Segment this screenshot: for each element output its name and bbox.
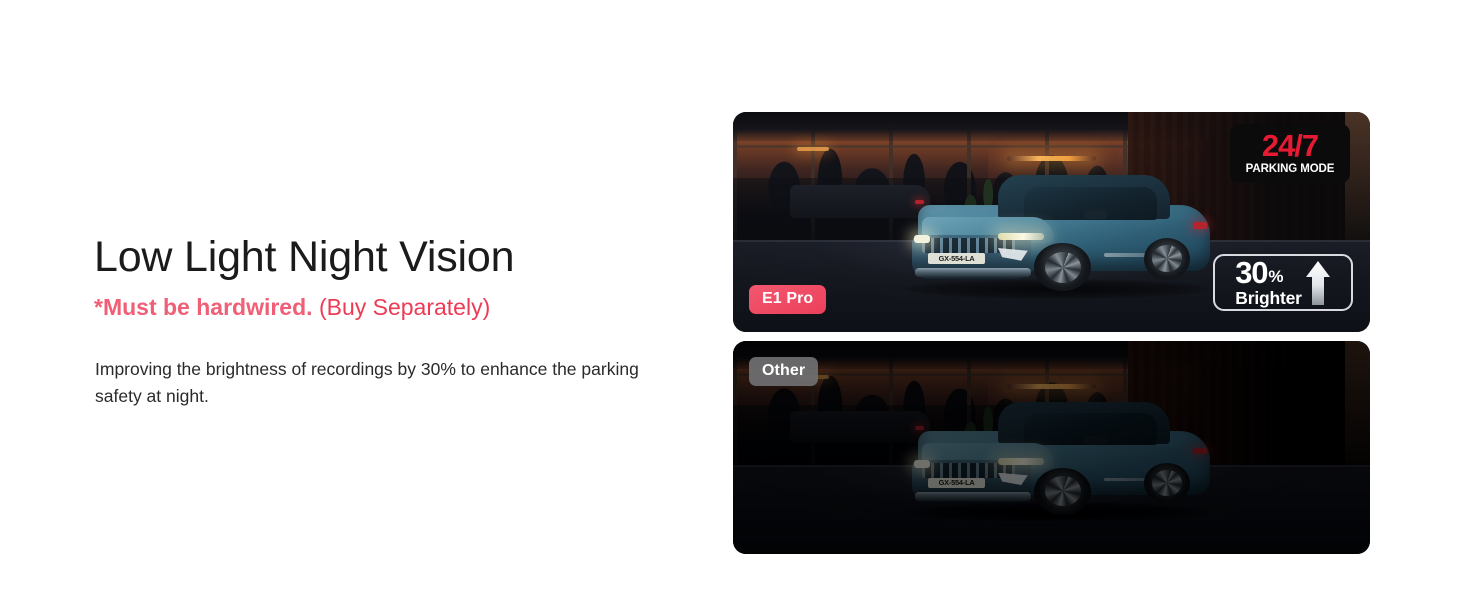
requirement-note-bold: *Must be hardwired. [94,294,313,320]
headlight-left-icon [914,235,931,243]
badge-brightness-gain: 30 % Brighter [1213,254,1353,311]
license-plate-text: GX-554-LA [939,254,975,262]
requirement-note: *Must be hardwired. (Buy Separately) [94,293,694,321]
license-plate-text: GX-554-LA [939,479,975,487]
interior-lamp [1007,384,1096,389]
badge-brightness-unit: % [1268,266,1283,287]
badge-brightness-value: 30 [1235,258,1267,287]
page-root: Low Light Night Vision *Must be hardwire… [0,0,1464,600]
car-side-mirror [1084,436,1107,445]
badge-parking-mode-subtitle: PARKING MODE [1236,163,1344,176]
badge-parking-mode: 24/7 PARKING MODE [1230,124,1350,183]
license-plate: GX-554-LA [928,478,984,489]
car-taillight [1193,222,1206,228]
car-taillight [1193,448,1206,454]
page-title: Low Light Night Vision [94,232,694,282]
car-wheel-front [1034,468,1090,515]
description-text: Improving the brightness of recordings b… [95,356,675,410]
badge-parking-mode-title: 24/7 [1236,130,1344,162]
car-bumper [915,492,1031,501]
panel-e1-pro[interactable]: GX-554-LA E1 Pro 24/7 PARKING MODE [733,112,1370,332]
interior-lamp [1007,156,1096,161]
night-scene-dark: GX-554-LA [733,341,1370,554]
badge-e1-pro: E1 Pro [749,285,826,314]
badge-brightness-word: Brighter [1235,288,1301,308]
badge-other-label: Other [762,362,805,379]
panel-other[interactable]: GX-554-LA Other [733,341,1370,554]
glass-facade-rail [733,145,1153,148]
requirement-note-paren: (Buy Separately) [319,294,490,320]
copy-block: Low Light Night Vision *Must be hardwire… [94,232,694,410]
car-bumper [915,268,1031,277]
foreground-suv: GX-554-LA [899,399,1230,523]
interior-lamp-secondary [797,147,829,151]
car-side-mirror [1084,210,1107,219]
badge-brightness-text: 30 % Brighter [1235,258,1301,308]
badge-e1-pro-label: E1 Pro [762,290,813,307]
car-wheel-front [1034,243,1090,291]
license-plate: GX-554-LA [928,253,984,264]
car-wheel-rear [1144,463,1190,504]
foreground-suv: GX-554-LA [899,171,1230,299]
right-sky-sliver [1345,341,1370,465]
car-wheel-rear [1144,238,1190,280]
badge-other: Other [749,357,818,386]
comparison-panels: GX-554-LA E1 Pro 24/7 PARKING MODE [733,112,1370,554]
headlight-right-icon [998,458,1044,465]
headlight-left-icon [914,460,931,467]
headlight-right-icon [998,233,1044,240]
badge-brightness-value-row: 30 % [1235,258,1283,287]
up-arrow-icon [1305,260,1331,306]
